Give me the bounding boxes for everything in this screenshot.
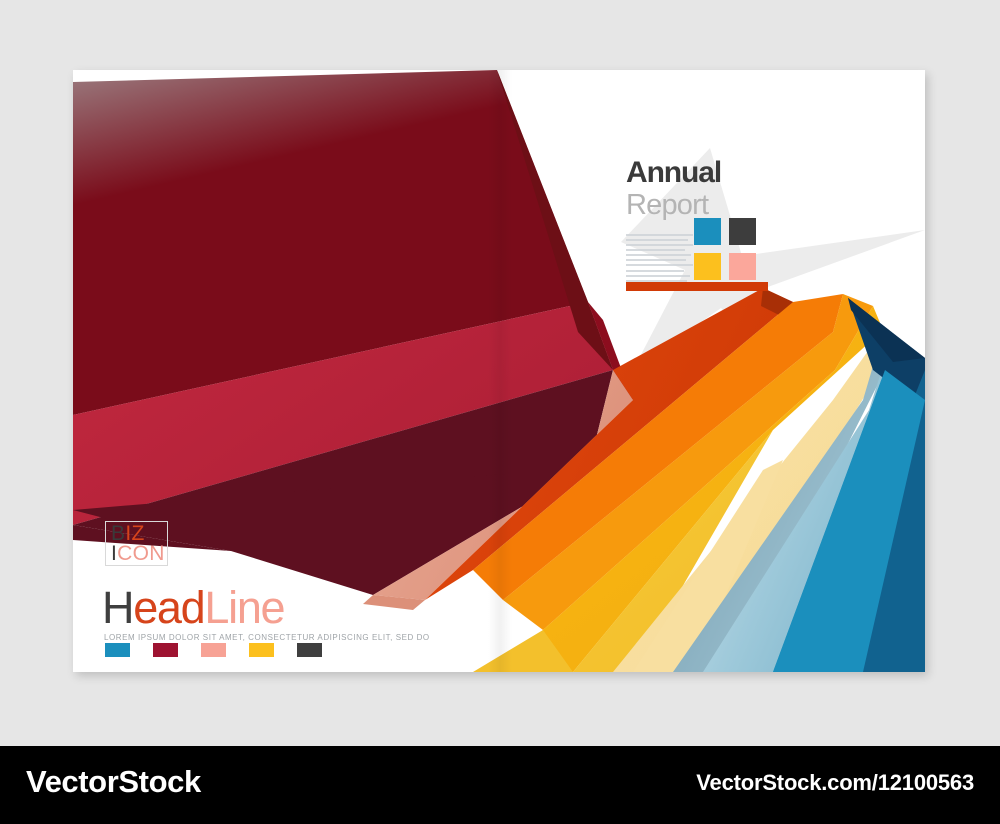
logo-line-one: BIZ	[111, 524, 167, 544]
placeholder-line	[626, 249, 685, 251]
placeholder-line	[626, 254, 691, 256]
headline-swatch-teal-blue	[105, 643, 130, 657]
placeholder-line	[626, 264, 693, 266]
biz-icon-logo: BIZ ICON	[105, 521, 168, 566]
headline-swatch-dark-red	[153, 643, 178, 657]
logo-line-two: ICON	[111, 544, 167, 564]
swatch-row	[694, 218, 766, 245]
swatch-salmon	[729, 253, 756, 280]
report-cover-page: Annual Report	[73, 70, 925, 672]
placeholder-line	[626, 270, 684, 272]
headline: HeadLine	[102, 585, 284, 631]
placeholder-line	[626, 259, 686, 261]
headline-part-h: H	[102, 582, 133, 633]
center-fold-shadow	[488, 70, 512, 672]
headline-swatch-charcoal	[297, 643, 322, 657]
swatch-charcoal	[729, 218, 756, 245]
report-title-primary: Annual	[626, 158, 786, 188]
headline-swatch-amber	[249, 643, 274, 657]
headline-swatch-salmon	[201, 643, 226, 657]
watermark-brand-text: VectorStock	[26, 764, 201, 800]
headline-subtitle: LOREM IPSUM DOLOR SIT AMET, CONSECTETUR …	[104, 633, 430, 642]
headline-part-ead: ead	[133, 582, 204, 633]
swatch-row	[694, 253, 766, 280]
swatch-teal-blue	[694, 218, 721, 245]
placeholder-line	[626, 275, 690, 277]
report-placeholder-text	[626, 234, 693, 282]
placeholder-line	[626, 244, 693, 246]
placeholder-line	[626, 239, 688, 241]
report-accent-rule	[626, 282, 768, 291]
report-swatch-grid	[694, 218, 766, 288]
watermark-url-text: VectorStock.com/12100563	[696, 770, 974, 796]
logo-letters-con: CON	[117, 542, 165, 565]
swatch-amber	[694, 253, 721, 280]
headline-swatch-row	[105, 643, 322, 657]
placeholder-line	[626, 234, 693, 236]
screenshot-canvas: Annual Report	[0, 0, 1000, 824]
headline-part-line: Line	[204, 582, 284, 633]
